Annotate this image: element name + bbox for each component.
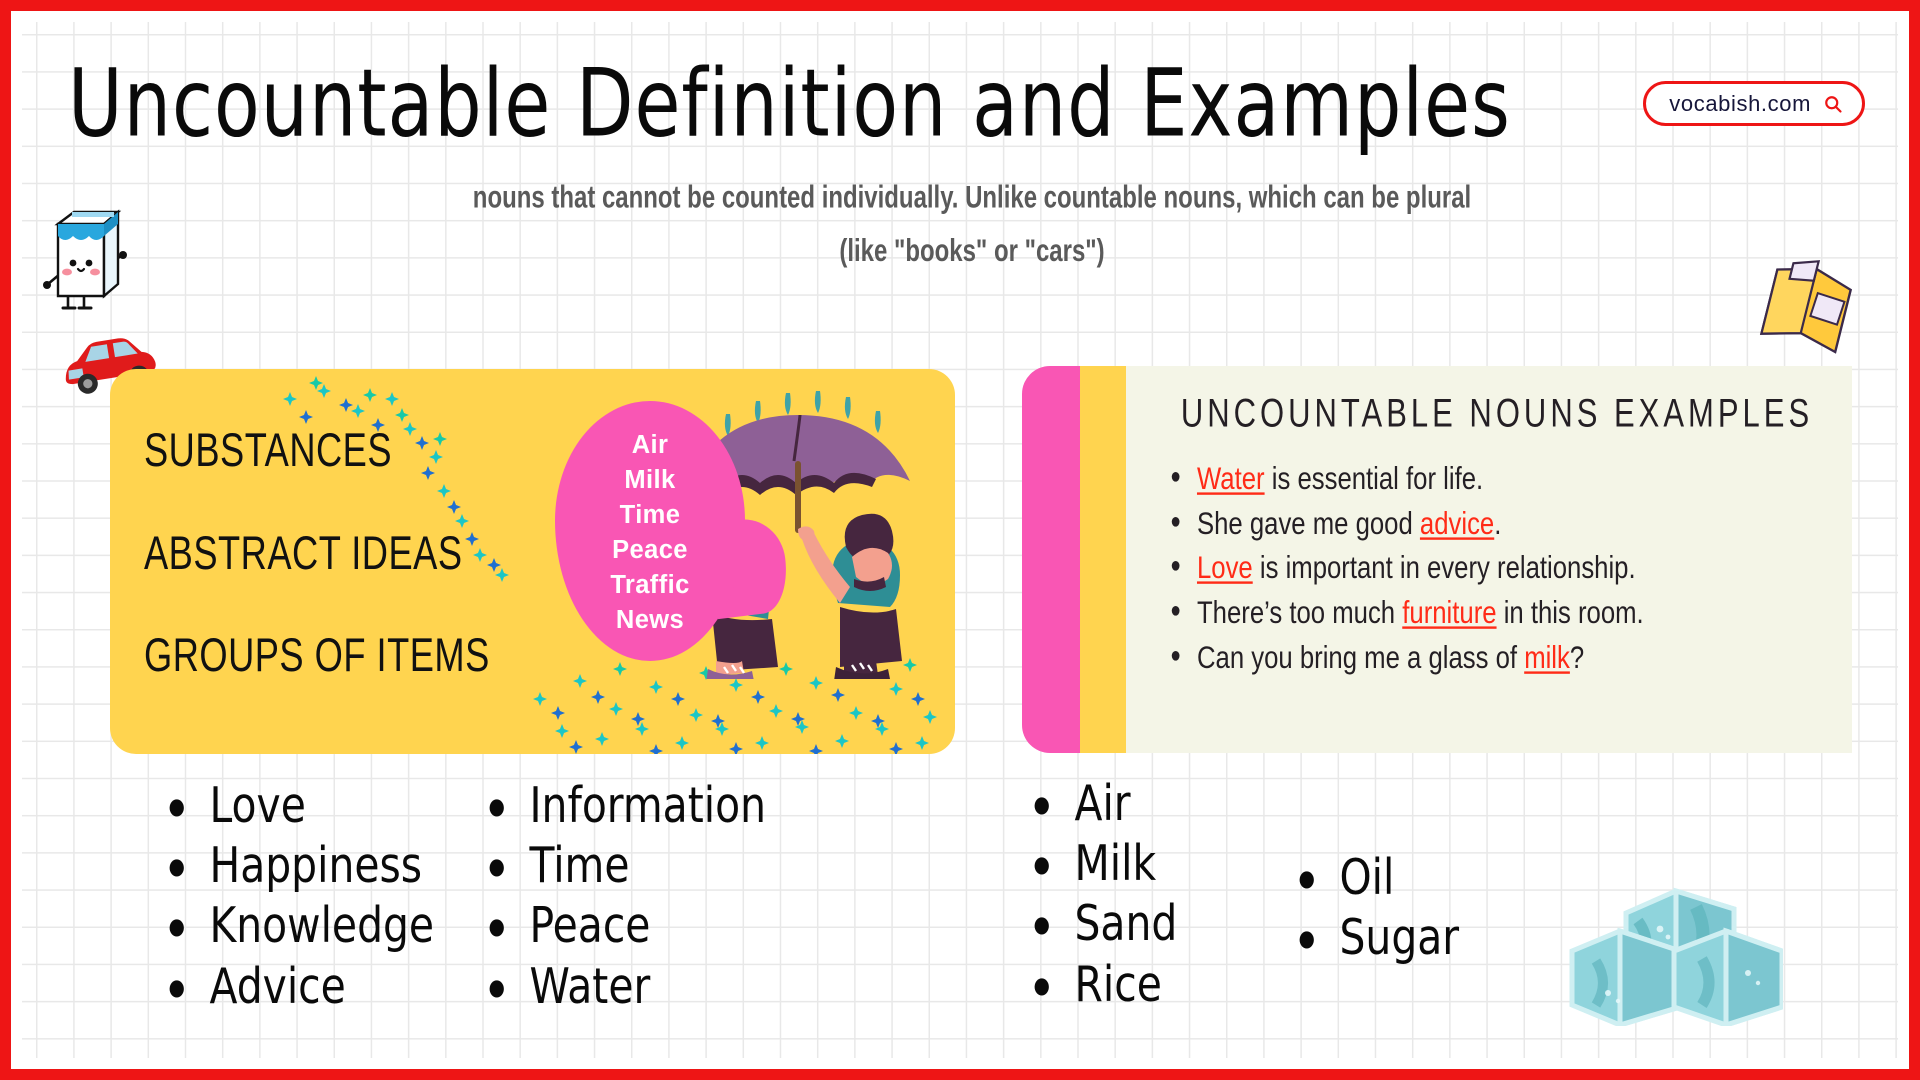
poster-frame: Uncountable Definition and Examples voca… [0, 0, 1920, 1080]
word-column-1: Love Happiness Knowledge Advice [162, 772, 448, 1013]
list-item: Sand [1027, 890, 1177, 959]
site-logo-label: vocabish.com [1669, 91, 1811, 117]
list-item: Peace [482, 892, 766, 961]
examples-heading: UNCOUNTABLE NOUNS EXAMPLES [1164, 390, 1830, 437]
list-item: Air [1027, 770, 1177, 839]
example-item: She gave me good advice. [1164, 505, 1810, 542]
bubble-word-traffic: Traffic [610, 570, 689, 601]
page-subtitle: nouns that cannot be counted individuall… [173, 172, 1771, 279]
bubble-word-time: Time [620, 500, 681, 531]
site-logo-badge[interactable]: vocabish.com [1643, 81, 1865, 126]
example-suffix: in this room. [1497, 594, 1644, 630]
search-icon [1823, 94, 1843, 114]
yellow-book-icon [1750, 250, 1866, 358]
word-column-3: Air Milk Sand Rice [1027, 770, 1185, 1011]
example-prefix: Can you bring me a glass of [1197, 639, 1524, 675]
list-item: Advice [162, 953, 434, 1022]
list-item: Happiness [162, 832, 434, 901]
bubble-word-peace: Peace [612, 535, 688, 566]
list-item: Water [482, 953, 766, 1022]
example-item: Love is important in every relationship. [1164, 549, 1810, 586]
bubble-word-air: Air [632, 430, 669, 461]
categories-card: SUBSTANCES ABSTRACT IDEAS GROUPS OF ITEM… [110, 369, 955, 754]
list-item: Time [482, 832, 766, 901]
subtitle-line-1: nouns that cannot be counted individuall… [173, 172, 1771, 226]
example-item: There’s too much furniture in this room. [1164, 594, 1810, 631]
list-item: Rice [1027, 951, 1177, 1020]
example-suffix: is essential for life. [1265, 460, 1484, 496]
category-label-groups: GROUPS OF ITEMS [144, 629, 490, 683]
word-column-2: Information Time Peace Water [482, 772, 781, 1013]
card-stripe-pink [1022, 366, 1080, 753]
example-suffix: . [1494, 505, 1501, 541]
examples-panel: UNCOUNTABLE NOUNS EXAMPLES Water is esse… [1126, 366, 1852, 753]
example-suffix: is important in every relationship. [1253, 549, 1636, 585]
example-keyword: Love [1197, 549, 1253, 585]
page-title: Uncountable Definition and Examples [68, 50, 1511, 159]
category-label-abstract-ideas: ABSTRACT IDEAS [144, 527, 463, 581]
milk-carton-icon [38, 200, 130, 310]
example-suffix: ? [1570, 639, 1584, 675]
poster-stage: Uncountable Definition and Examples voca… [22, 22, 1898, 1058]
example-item: Water is essential for life. [1164, 460, 1810, 497]
examples-card: UNCOUNTABLE NOUNS EXAMPLES Water is esse… [1022, 366, 1852, 753]
list-item: Love [162, 772, 434, 841]
example-keyword: Water [1197, 460, 1265, 496]
ice-cubes-icon [1568, 801, 1783, 1026]
list-item: Sugar [1292, 904, 1459, 973]
bubble-word-milk: Milk [624, 465, 675, 496]
example-prefix: There’s too much [1197, 594, 1402, 630]
example-prefix: She gave me good [1197, 505, 1420, 541]
example-keyword: furniture [1402, 594, 1496, 630]
examples-list: Water is essential for life. She gave me… [1164, 460, 1830, 670]
subtitle-line-2: (like "books" or "cars") [173, 226, 1771, 280]
list-item: Milk [1027, 830, 1177, 899]
example-keyword: advice [1420, 505, 1494, 541]
example-item: Can you bring me a glass of milk? [1164, 639, 1810, 676]
card-stripe-yellow [1080, 366, 1126, 753]
example-keyword: milk [1524, 639, 1570, 675]
list-item: Knowledge [162, 892, 434, 961]
category-label-substances: SUBSTANCES [144, 424, 392, 478]
list-item: Oil [1292, 844, 1459, 913]
bubble-word-news: News [616, 605, 684, 636]
word-column-4: Oil Sugar [1292, 844, 1468, 964]
list-item: Information [482, 772, 766, 841]
